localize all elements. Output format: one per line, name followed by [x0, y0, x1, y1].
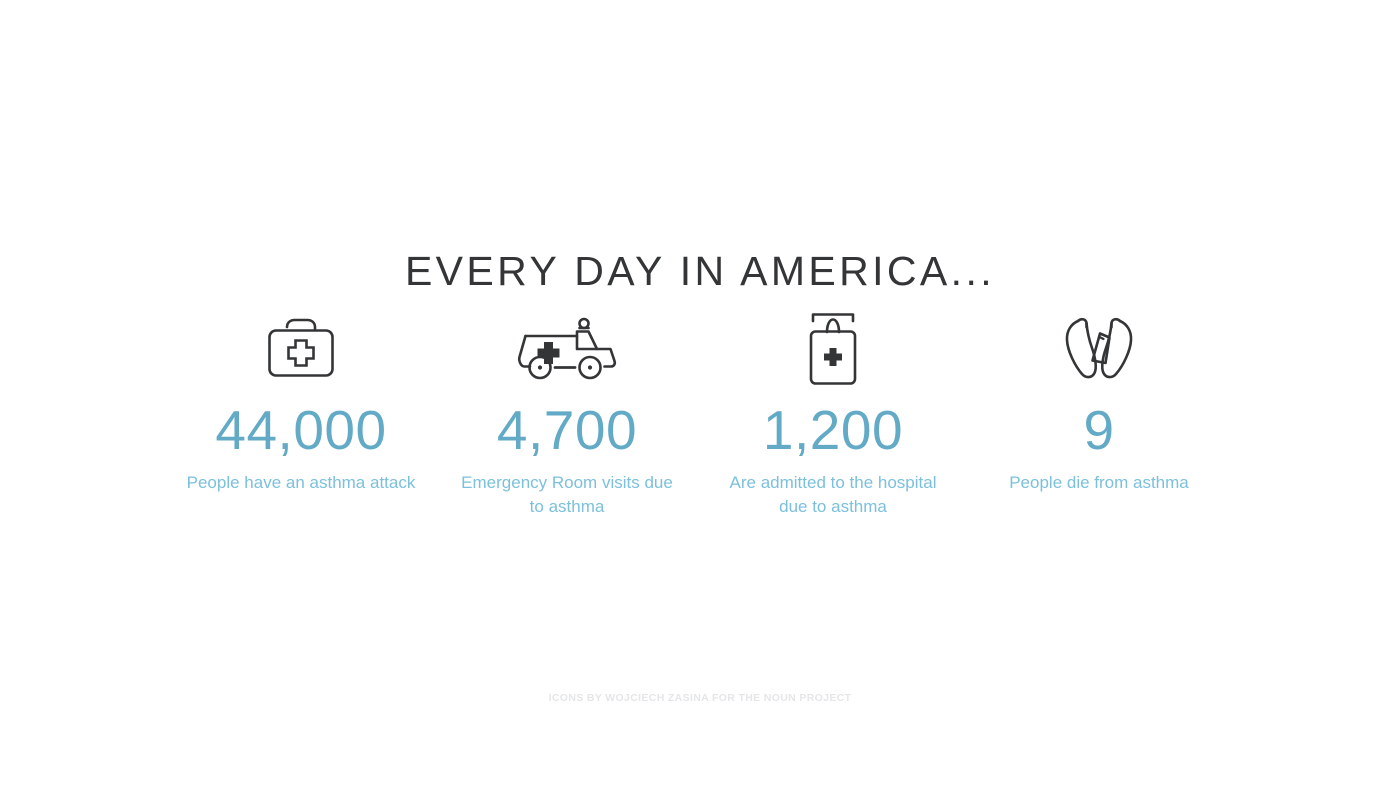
stat-value: 1,200: [763, 403, 903, 458]
stat-caption: Are admitted to the hospital due to asth…: [718, 471, 948, 519]
morgue-toe-tag-icon: [1056, 305, 1142, 393]
footer-credit-container: Icons by Wojciech Zasina for the Noun Pr…: [0, 688, 1400, 706]
stat-caption: People have an asthma attack: [187, 471, 416, 495]
stat-column-deaths: 9 People die from asthma: [966, 305, 1232, 495]
stat-column-er-visits: 4,700 Emergency Room visits due to asthm…: [434, 305, 700, 519]
stats-row: 44,000 People have an asthma attack: [168, 305, 1232, 519]
ambulance-icon: [515, 305, 619, 393]
stat-caption: People die from asthma: [1009, 471, 1189, 495]
page-title: EVERY DAY IN AMERICA...: [405, 249, 995, 294]
stat-column-hospital-admissions: 1,200 Are admitted to the hospital due t…: [700, 305, 966, 519]
stat-column-asthma-attack: 44,000 People have an asthma attack: [168, 305, 434, 495]
stat-value: 9: [1083, 403, 1114, 458]
icon-attribution-credit: Icons by Wojciech Zasina for the Noun Pr…: [549, 692, 852, 704]
stat-caption: Emergency Room visits due to asthma: [452, 471, 682, 519]
stat-value: 4,700: [497, 403, 637, 458]
first-aid-kit-icon: [259, 305, 343, 393]
iv-drip-bag-icon: [798, 305, 868, 393]
stat-value: 44,000: [215, 403, 386, 458]
infographic-root: EVERY DAY IN AMERICA... 44,000 People ha…: [0, 0, 1400, 788]
